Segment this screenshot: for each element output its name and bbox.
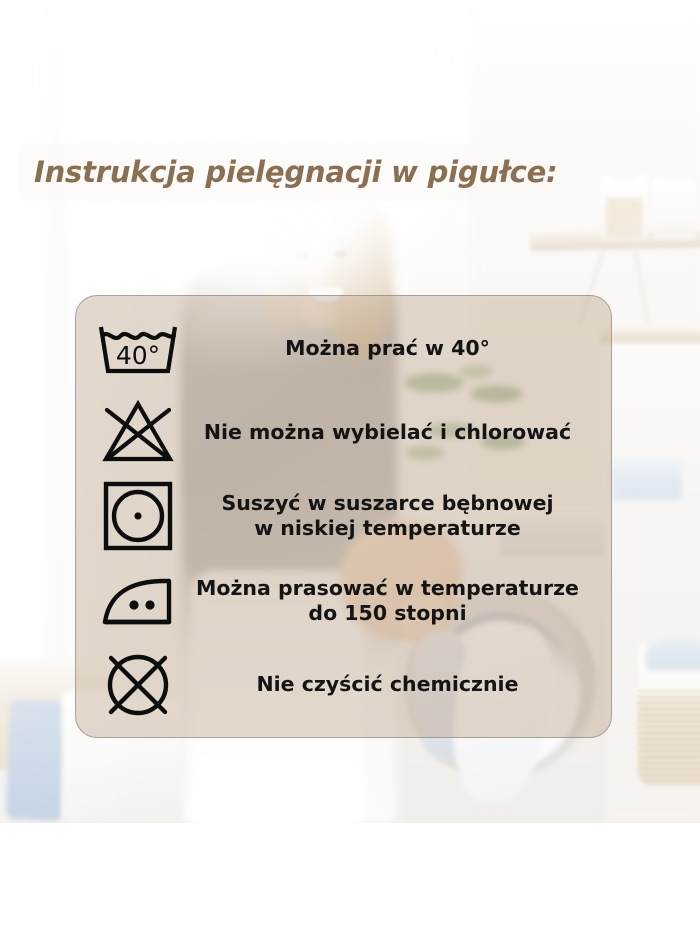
do-not-bleach-icon bbox=[90, 399, 186, 465]
do-not-dry-clean-icon bbox=[90, 649, 186, 721]
care-label: Można prać w 40° bbox=[186, 336, 597, 361]
tumble-dry-low-icon bbox=[90, 480, 186, 552]
storage-jar-right bbox=[652, 178, 696, 240]
jar-lid-left bbox=[610, 160, 638, 180]
care-row: Nie można wybielać i chlorować bbox=[90, 395, 597, 469]
basket-laundry-right bbox=[646, 640, 700, 670]
iron-two-dots-icon bbox=[90, 572, 186, 630]
page-title: Instrukcja pielęgnacji w pigułce: bbox=[34, 155, 557, 189]
wash-temp-value: 40° bbox=[116, 341, 160, 370]
care-label: Suszyć w suszarce bębnowej w niskiej tem… bbox=[186, 491, 597, 541]
care-label: Nie można wybielać i chlorować bbox=[186, 420, 597, 445]
care-row: 40° Można prać w 40° bbox=[90, 311, 597, 385]
care-row: Suszyć w suszarce bębnowej w niskiej tem… bbox=[90, 479, 597, 553]
care-label: Można prasować w temperaturze do 150 sto… bbox=[186, 576, 597, 626]
jar-contents-left bbox=[606, 198, 642, 238]
care-label: Nie czyścić chemicznie bbox=[186, 672, 597, 697]
care-instructions-panel: 40° Można prać w 40° Nie można wybielać … bbox=[75, 295, 612, 738]
poster-canvas: Instrukcja pielęgnacji w pigułce: 40° Mo… bbox=[0, 0, 700, 945]
jar-lid-right bbox=[661, 163, 687, 182]
wash-tub-40-icon: 40° bbox=[90, 319, 186, 377]
folded-towels bbox=[612, 460, 682, 500]
title-banner: Instrukcja pielęgnacji w pigułce: bbox=[18, 143, 568, 201]
care-row: Można prasować w temperaturze do 150 sto… bbox=[90, 564, 597, 638]
blue-towel bbox=[6, 699, 66, 821]
counter-top bbox=[600, 330, 700, 344]
rope-basket-texture bbox=[638, 690, 700, 785]
care-row: Nie czyścić chemicznie bbox=[90, 648, 597, 722]
